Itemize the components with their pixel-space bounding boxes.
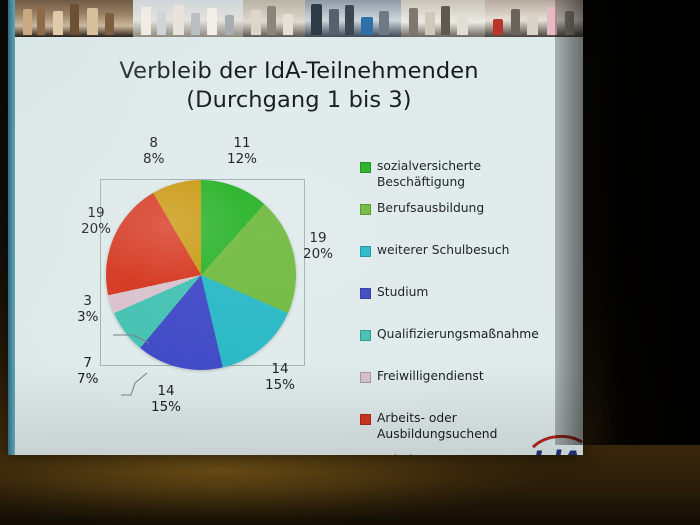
- legend-item-weiterer-schulbesuch[interactable]: weiterer Schulbesuch: [360, 243, 509, 259]
- legend-swatch-pink-icon: [360, 372, 371, 383]
- pie-label-sozialversicherte-beschaeftigung: 11 12%: [227, 135, 257, 167]
- legend-swatch-green-icon: [360, 162, 371, 173]
- logo-wordmark: IdA: [521, 446, 583, 455]
- legend-label: Arbeits- oder Ausbildungsuchend: [377, 411, 497, 442]
- legend-swatch-teal-icon: [360, 330, 371, 341]
- slide-body: Verbleib der IdA-Teilnehmenden (Durchgan…: [15, 37, 583, 455]
- legend-swatch-cyan-icon: [360, 246, 371, 257]
- header-photo-collage: [15, 0, 583, 37]
- legend-item-berufsausbildung[interactable]: Berufsausbildung: [360, 201, 484, 217]
- pie-label-unbekannt: 8 8%: [143, 135, 164, 167]
- legend-label: Freiwilligendienst: [377, 369, 484, 385]
- legend-label: Unbekannt: [377, 453, 444, 455]
- legend-item-freiwilligendienst[interactable]: Freiwilligendienst: [360, 369, 484, 385]
- title-line-2: (Durchgang 1 bis 3): [15, 86, 583, 115]
- legend-item-unbekannt[interactable]: Unbekannt: [360, 453, 444, 455]
- pie-label-qualifizierungsmassnahme: 7 7%: [77, 355, 98, 387]
- legend-label: weiterer Schulbesuch: [377, 243, 509, 259]
- legend-item-qualifizierungsmassnahme[interactable]: Qualifizierungsmaßnahme: [360, 327, 539, 343]
- legend-label: sozialversicherte Beschäftigung: [377, 159, 481, 190]
- legend-swatch-yellowgreen-icon: [360, 204, 371, 215]
- projection-room-background: Verbleib der IdA-Teilnehmenden (Durchgan…: [0, 0, 700, 525]
- legend-label: Qualifizierungsmaßnahme: [377, 327, 539, 343]
- legend-item-arbeits-oder-ausbildungsuchend[interactable]: Arbeits- oder Ausbildungsuchend: [360, 411, 497, 442]
- legend-label: Studium: [377, 285, 428, 301]
- pie-label-freiwilligendienst: 3 3%: [77, 293, 98, 325]
- legend-label: Berufsausbildung: [377, 201, 484, 217]
- pie-label-berufsausbildung: 19 20%: [303, 230, 333, 262]
- legend-item-sozialversicherte-beschaeftigung[interactable]: sozialversicherte Beschäftigung: [360, 159, 481, 190]
- pie-label-weiterer-schulbesuch: 14 15%: [265, 361, 295, 393]
- legend-item-studium[interactable]: Studium: [360, 285, 428, 301]
- pie-label-arbeits-oder-ausbildungsuchend: 19 20%: [81, 205, 111, 237]
- page-title: Verbleib der IdA-Teilnehmenden (Durchgan…: [15, 57, 583, 115]
- legend-swatch-red-icon: [360, 414, 371, 425]
- pie-label-studium: 14 15%: [151, 383, 181, 415]
- projected-slide: Verbleib der IdA-Teilnehmenden (Durchgan…: [8, 0, 583, 455]
- ida-logo: IdA Integration durch Austausch: [521, 435, 583, 455]
- title-line-1: Verbleib der IdA-Teilnehmenden: [119, 58, 478, 84]
- legend-swatch-blue-icon: [360, 288, 371, 299]
- slide-accent-edge: [8, 0, 15, 455]
